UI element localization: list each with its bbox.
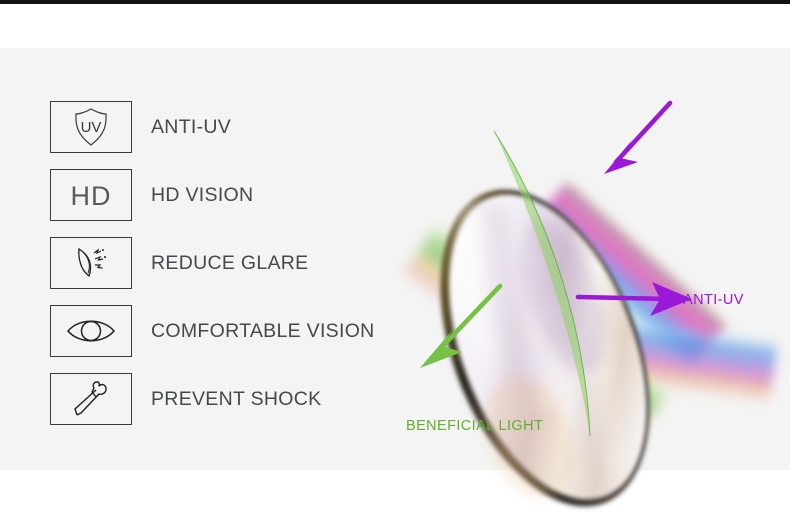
feature-label-prevent-shock: PREVENT SHOCK <box>151 388 321 411</box>
feature-label-anti-uv: ANTI-UV <box>151 116 231 139</box>
svg-text:HD: HD <box>71 181 112 211</box>
lens-light-diagram: ANTI-UV BENEFICIAL LIGHT <box>380 96 790 518</box>
top-divider-bar <box>0 0 790 4</box>
icon-box-prevent-shock <box>50 373 132 425</box>
feature-label-hd-vision: HD VISION <box>151 184 253 207</box>
icon-box-anti-uv: UV <box>50 101 132 153</box>
feature-label-comfortable-vision: COMFORTABLE VISION <box>151 320 375 343</box>
label-anti-uv: ANTI-UV <box>683 292 744 308</box>
content-panel: UV ANTI-UV HD HD VISION <box>0 48 790 470</box>
glare-lens-icon <box>67 243 115 283</box>
hd-text-icon: HD <box>68 178 114 212</box>
svg-text:UV: UV <box>81 119 102 136</box>
icon-box-hd-vision: HD <box>50 169 132 221</box>
feature-label-reduce-glare: REDUCE GLARE <box>151 252 308 275</box>
uv-shield-icon: UV <box>69 106 113 148</box>
icon-box-comfortable-vision <box>50 305 132 357</box>
eye-icon <box>65 316 117 346</box>
icon-box-reduce-glare <box>50 237 132 289</box>
uv-incoming-arrow <box>604 103 670 174</box>
hammer-icon <box>69 379 113 419</box>
label-beneficial-light: BENEFICIAL LIGHT <box>406 418 543 434</box>
